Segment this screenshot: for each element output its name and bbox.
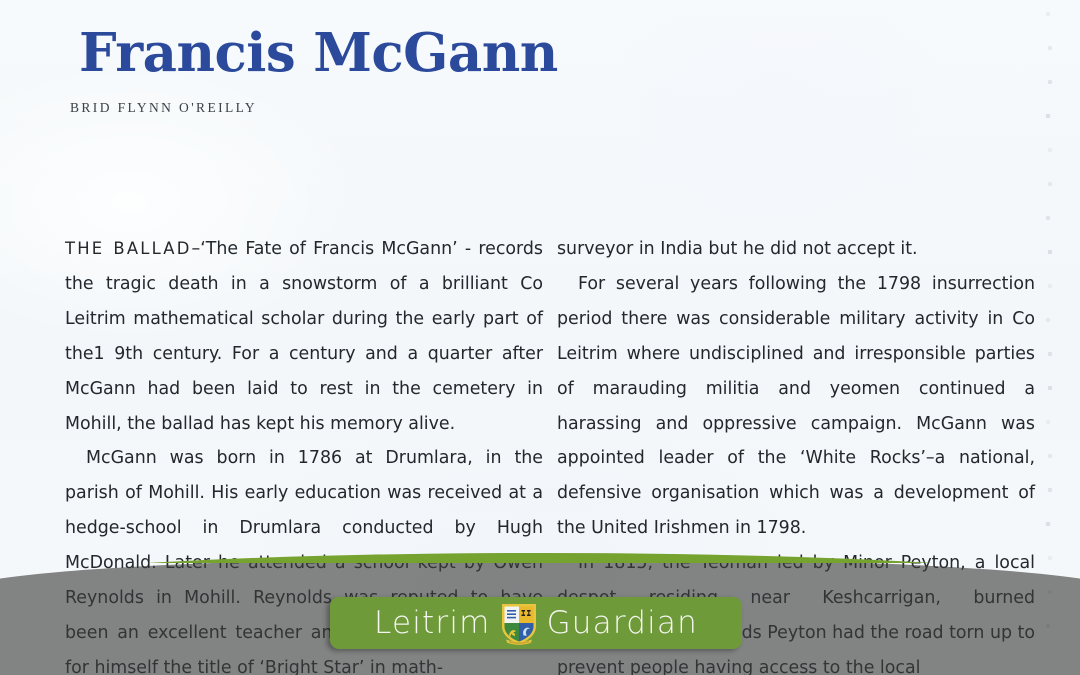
paragraph-text: surveyor in India but he did not accept …: [557, 239, 918, 259]
article-content: Francis McGann BRID FLYNN O'REILLY THE B…: [0, 0, 1080, 675]
page-title: Francis McGann: [79, 22, 558, 84]
paragraph-text: –‘The Fate of Francis McGann’ - records …: [65, 239, 543, 434]
leitrim-guardian-logo[interactable]: Leitrim: [330, 597, 742, 649]
paragraph-text: For several years following the 1798 ins…: [557, 274, 1035, 538]
byline: BRID FLYNN O'REILLY: [70, 100, 257, 116]
paragraph: surveyor in India but he did not accept …: [557, 232, 1035, 267]
logo-word-leitrim: Leitrim: [374, 608, 491, 639]
paragraph: For several years following the 1798 ins…: [557, 267, 1035, 546]
logo-word-guardian: Guardian: [547, 608, 698, 639]
paragraph-lead-in: THE BALLAD: [65, 239, 192, 258]
paragraph: THE BALLAD–‘The Fate of Francis McGann’ …: [65, 232, 543, 441]
document-page: Francis McGann BRID FLYNN O'REILLY THE B…: [0, 0, 1080, 675]
leitrim-coat-of-arms-icon: [500, 602, 538, 646]
